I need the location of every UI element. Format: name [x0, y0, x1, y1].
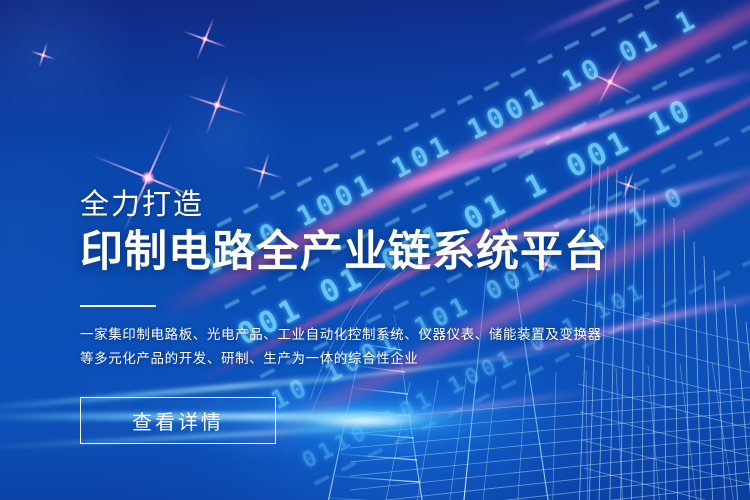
- page-title: 印制电路全产业链系统平台: [80, 228, 640, 276]
- hero-content: 全力打造 印制电路全产业链系统平台 一家集印制电路板、光电产品、工业自动化控制系…: [80, 190, 640, 444]
- hero-banner: 1010 1001 101 1001 10 01 1 001 01 001 01…: [0, 0, 750, 500]
- description-line-1: 一家集印制电路板、光电产品、工业自动化控制系统、仪器仪表、储能装置及变换器: [80, 323, 640, 347]
- hero-eyebrow: 全力打造: [80, 190, 640, 222]
- hero-description: 一家集印制电路板、光电产品、工业自动化控制系统、仪器仪表、储能装置及变换器 等多…: [80, 323, 640, 371]
- view-details-button[interactable]: 查看详情: [80, 397, 276, 444]
- title-divider: [80, 305, 156, 307]
- description-line-2: 等多元化产品的开发、研制、生产为一体的综合性企业: [80, 347, 640, 371]
